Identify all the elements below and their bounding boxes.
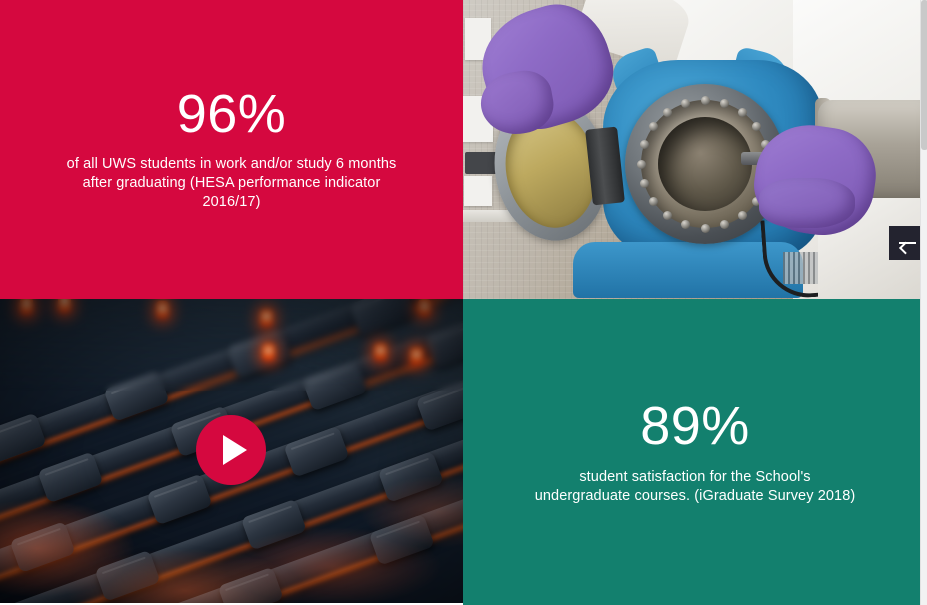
- stat-panel-satisfaction: 89% student satisfaction for the School'…: [463, 299, 927, 605]
- flange-bolt: [738, 211, 747, 220]
- flange-bolt: [738, 108, 747, 117]
- flange-bolt: [663, 108, 672, 117]
- flange-bolt: [701, 96, 710, 105]
- stat-caption-satisfaction: student satisfaction for the School's un…: [530, 468, 860, 507]
- flange-bolt: [640, 179, 649, 188]
- stat-content-satisfaction: 89% student satisfaction for the School'…: [530, 398, 860, 506]
- stat-number-96: 96%: [67, 86, 397, 143]
- vertical-scrollbar[interactable]: [920, 0, 927, 605]
- flange-bolt: [752, 122, 761, 131]
- flange-bore: [658, 117, 752, 211]
- stat-number-89: 89%: [530, 398, 860, 455]
- play-icon: [223, 435, 247, 465]
- flange-bolt: [637, 160, 646, 169]
- lab-wall-paper: [464, 176, 492, 206]
- stat-panel-employability: 96% of all UWS students in work and/or s…: [0, 0, 463, 299]
- flange-bolt: [681, 99, 690, 108]
- stat-content-employability: 96% of all UWS students in work and/or s…: [67, 86, 397, 213]
- flange-bolt: [720, 220, 729, 229]
- flange-bolt: [649, 122, 658, 131]
- purple-glove-right-fingers: [759, 178, 855, 228]
- arrow-left-icon: [899, 242, 916, 244]
- page-root: 96% of all UWS students in work and/or s…: [0, 0, 927, 605]
- flange-bolt: [640, 140, 649, 149]
- flange-bolt: [681, 220, 690, 229]
- flange-bolt: [649, 197, 658, 206]
- flange-bolt: [663, 211, 672, 220]
- stat-caption-employability: of all UWS students in work and/or study…: [67, 155, 397, 213]
- flange-bolt: [720, 99, 729, 108]
- lab-photo-canvas: [463, 0, 927, 299]
- flange-bolt: [701, 224, 710, 233]
- play-video-button[interactable]: [196, 415, 266, 485]
- photo-lab-vacuum-chamber: [463, 0, 927, 299]
- scrollbar-thumb[interactable]: [921, 0, 927, 150]
